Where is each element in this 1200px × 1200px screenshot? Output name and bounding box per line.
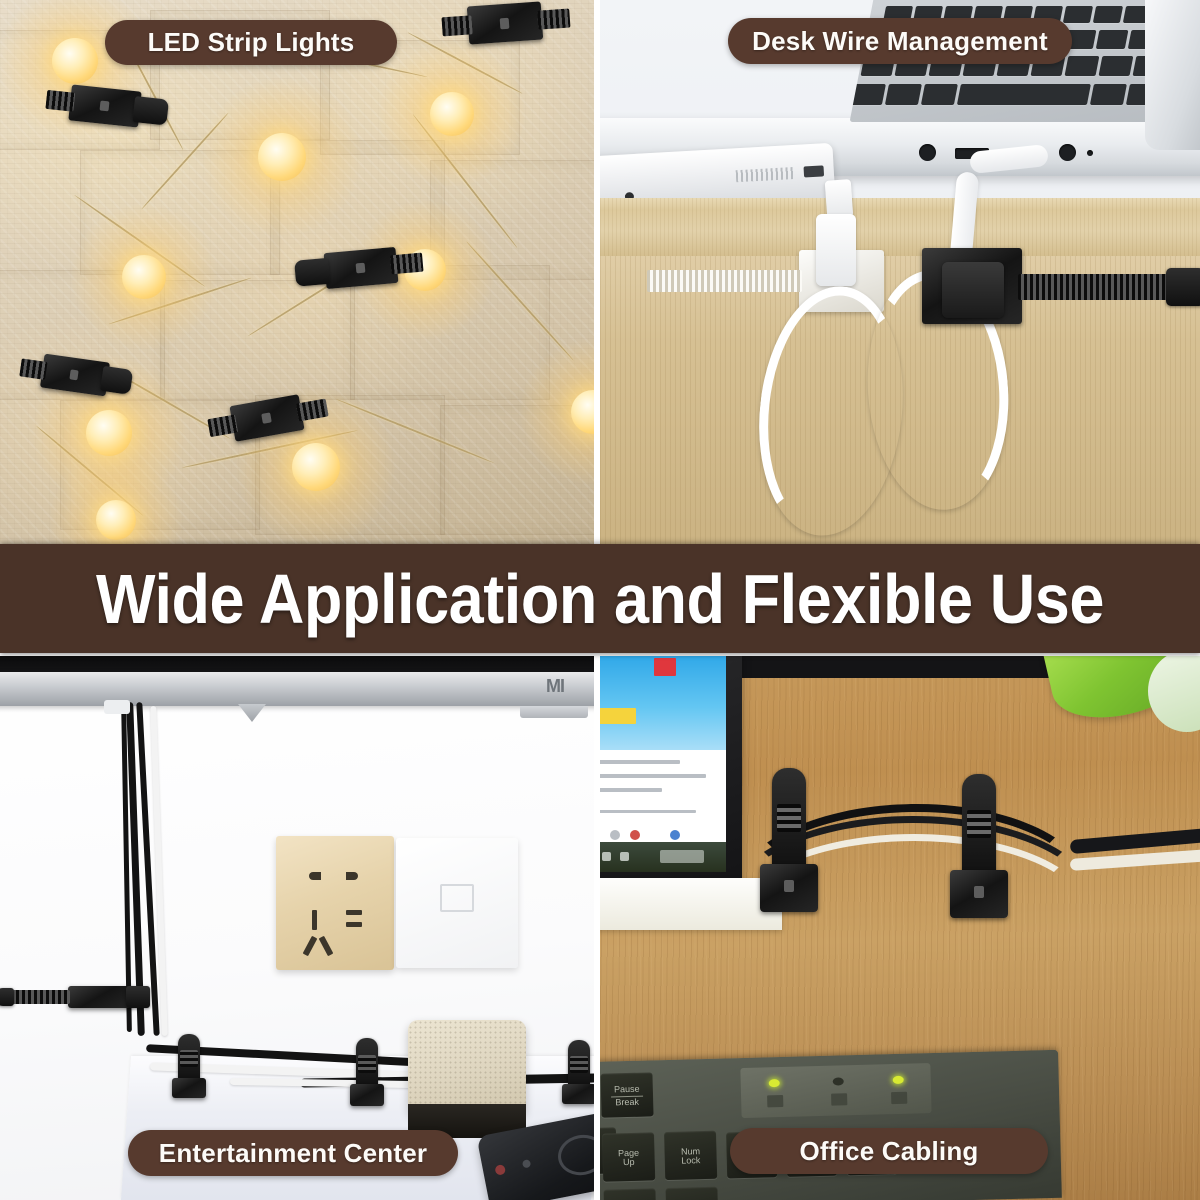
banner-wide-application: Wide Application and Flexible Use — [0, 544, 1200, 653]
photo-led-strip-lights — [0, 0, 594, 544]
key-num-lock[interactable]: Num Lock — [664, 1131, 717, 1180]
label-text: LED Strip Lights — [148, 27, 355, 58]
audio-port — [919, 144, 936, 161]
led-globe — [258, 133, 306, 181]
key-label-bottom: Up — [623, 1158, 635, 1168]
led-globe — [292, 443, 340, 491]
tv-bottom-bar — [0, 672, 594, 706]
key-label-bottom: Lock — [681, 1156, 700, 1166]
cable-clip-black — [922, 248, 1022, 324]
key-label-bottom: Break — [615, 1097, 639, 1107]
key-blank[interactable] — [603, 1188, 656, 1200]
led-globe — [86, 410, 132, 456]
label-led-strip-lights: LED Strip Lights — [105, 20, 397, 65]
panel-entertainment-center: MI — [0, 656, 594, 1200]
cable-clip-shelf — [178, 1034, 200, 1098]
label-desk-wire-management: Desk Wire Management — [728, 18, 1072, 64]
audio-port — [1059, 144, 1076, 161]
label-office-cabling: Office Cabling — [730, 1128, 1048, 1174]
cable-strain-relief — [816, 214, 856, 286]
desk-top-edge — [600, 198, 1200, 258]
key-page-up[interactable]: Page Up — [602, 1132, 655, 1181]
cable-clip — [324, 247, 399, 289]
key-label-top: Pause — [614, 1085, 640, 1095]
key-blank[interactable] — [665, 1187, 718, 1200]
led-globe — [52, 38, 98, 84]
caps-lock-led — [833, 1077, 844, 1085]
keyboard[interactable]: Pause Break Page Up Num Lock — [600, 1050, 1062, 1200]
power-outlet[interactable] — [276, 836, 394, 970]
cable-clip-shelf — [356, 1038, 378, 1106]
cable-connector — [104, 700, 130, 714]
photo-office-cabling: Pause Break Page Up Num Lock — [600, 656, 1200, 1200]
led-globe — [571, 390, 594, 434]
panel-desk-wire-management: Desk Wire Management — [600, 0, 1200, 544]
cable-clip — [467, 1, 543, 44]
tv-stand — [520, 706, 588, 718]
photo-entertainment-center: MI — [0, 656, 594, 1200]
monitor-screen — [600, 656, 726, 872]
led-globe — [430, 92, 474, 136]
panel-led-strip-lights: LED Strip Lights — [0, 0, 594, 544]
led-globe — [96, 500, 136, 540]
label-entertainment-center: Entertainment Center — [128, 1130, 458, 1176]
indicator-port — [1087, 150, 1093, 156]
panel-office-cabling: Pause Break Page Up Num Lock — [600, 656, 1200, 1200]
label-text: Desk Wire Management — [752, 26, 1048, 57]
ethernet-jack[interactable] — [396, 838, 518, 968]
laptop-hinge — [1145, 0, 1200, 150]
cable-clip-desk — [772, 768, 806, 908]
num-lock-led — [769, 1079, 780, 1087]
lightning-connector — [825, 179, 854, 219]
cable-clip-desk — [962, 774, 996, 914]
keyboard-indicator-panel — [740, 1063, 931, 1118]
led-globe — [122, 255, 166, 299]
key-pause-break[interactable]: Pause Break — [600, 1072, 653, 1117]
panel-gutter — [594, 0, 600, 544]
banner-text: Wide Application and Flexible Use — [96, 559, 1104, 639]
photo-desk-wire-management — [600, 0, 1200, 544]
speaker — [408, 1020, 526, 1116]
label-text: Office Cabling — [799, 1136, 978, 1167]
cable-clip-wall — [68, 986, 132, 1008]
tv-brand-logo: MI — [546, 676, 564, 697]
cable-clip-shelf — [568, 1040, 590, 1104]
product-feature-collage: LED Strip Lights — [0, 0, 1200, 1200]
scroll-lock-led — [893, 1076, 904, 1084]
label-text: Entertainment Center — [159, 1138, 427, 1169]
panel-gutter — [594, 656, 600, 1200]
monitor — [600, 656, 742, 882]
cable-clip — [68, 84, 141, 127]
